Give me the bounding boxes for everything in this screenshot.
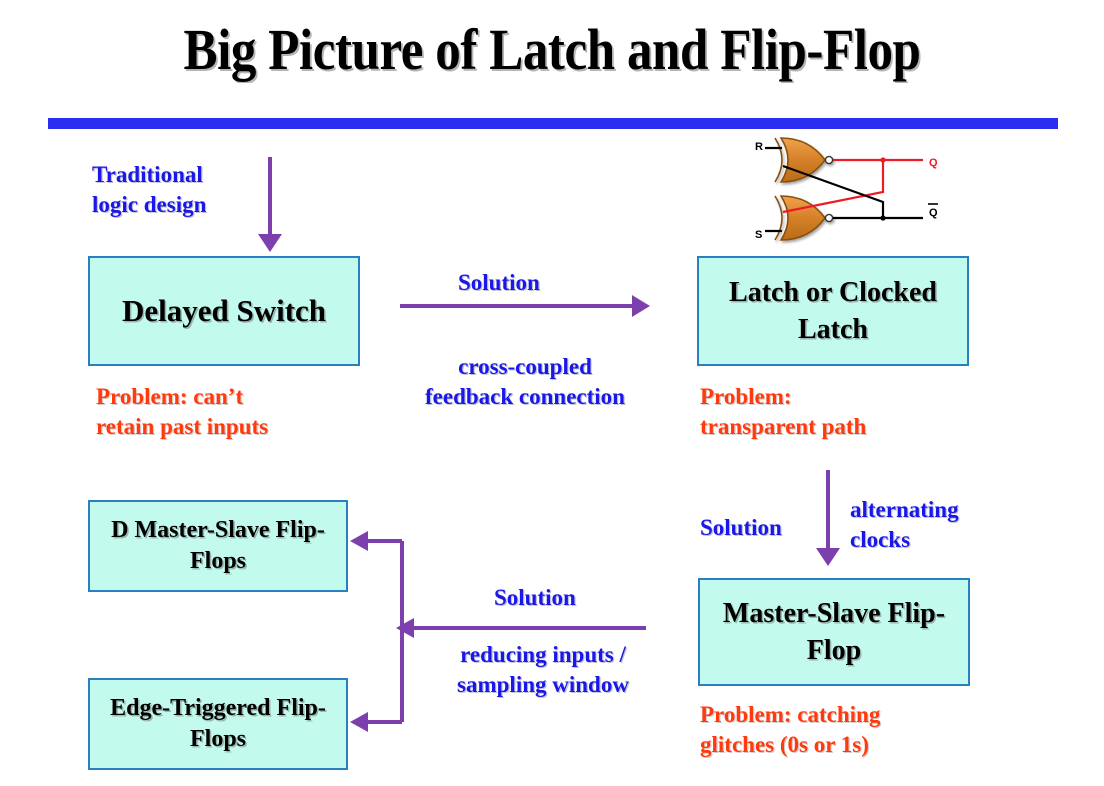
- circuit-label-q: Q: [929, 157, 938, 169]
- title-divider-bar: [48, 118, 1058, 129]
- node-master-slave-flip-flop[interactable]: Master-Slave Flip-Flop: [698, 578, 970, 686]
- circuit-label-s: S: [755, 229, 762, 241]
- node-d-master-slave-flip-flops[interactable]: D Master-Slave Flip-Flops: [88, 500, 348, 592]
- node-label: Delayed Switch: [122, 293, 326, 329]
- arrow-traditional-down: [258, 157, 282, 252]
- slide-canvas: Big Picture of Latch and Flip-Flop R S Q…: [0, 0, 1104, 786]
- nor-latch-circuit-image: R S Q Q: [733, 134, 973, 246]
- annotation-alternating-clocks: alternating clocks: [850, 495, 959, 555]
- annotation-solution-2: Solution: [700, 513, 782, 543]
- node-latch-or-clocked-latch[interactable]: Latch or Clocked Latch: [697, 256, 969, 366]
- circuit-label-r: R: [755, 141, 763, 153]
- arrow-alternating-down: [816, 470, 840, 566]
- annotation-reducing-inputs-sampling-window: reducing inputs / sampling window: [428, 640, 658, 700]
- node-label: Master-Slave Flip-Flop: [700, 595, 968, 669]
- annotation-solution-1: Solution: [458, 268, 540, 298]
- arrow-solution-right: [400, 295, 650, 317]
- circuit-label-qbar: Q: [929, 207, 938, 219]
- node-label: Edge-Triggered Flip-Flops: [90, 693, 346, 755]
- node-label: D Master-Slave Flip-Flops: [90, 515, 346, 577]
- page-title: Big Picture of Latch and Flip-Flop: [66, 14, 1038, 86]
- annotation-solution-3: Solution: [494, 583, 576, 613]
- node-delayed-switch[interactable]: Delayed Switch: [88, 256, 360, 366]
- arrow-solution-tree-left: [350, 531, 646, 732]
- problem-transparent-path: Problem: transparent path: [700, 382, 866, 442]
- annotation-cross-coupled-feedback: cross-coupled feedback connection: [400, 352, 650, 412]
- node-edge-triggered-flip-flops[interactable]: Edge-Triggered Flip-Flops: [88, 678, 348, 770]
- node-label: Latch or Clocked Latch: [699, 274, 967, 348]
- problem-catching-glitches: Problem: catching glitches (0s or 1s): [700, 700, 880, 760]
- annotation-traditional-logic-design: Traditional logic design: [92, 160, 206, 220]
- problem-cannot-retain-past-inputs: Problem: can’t retain past inputs: [96, 382, 268, 442]
